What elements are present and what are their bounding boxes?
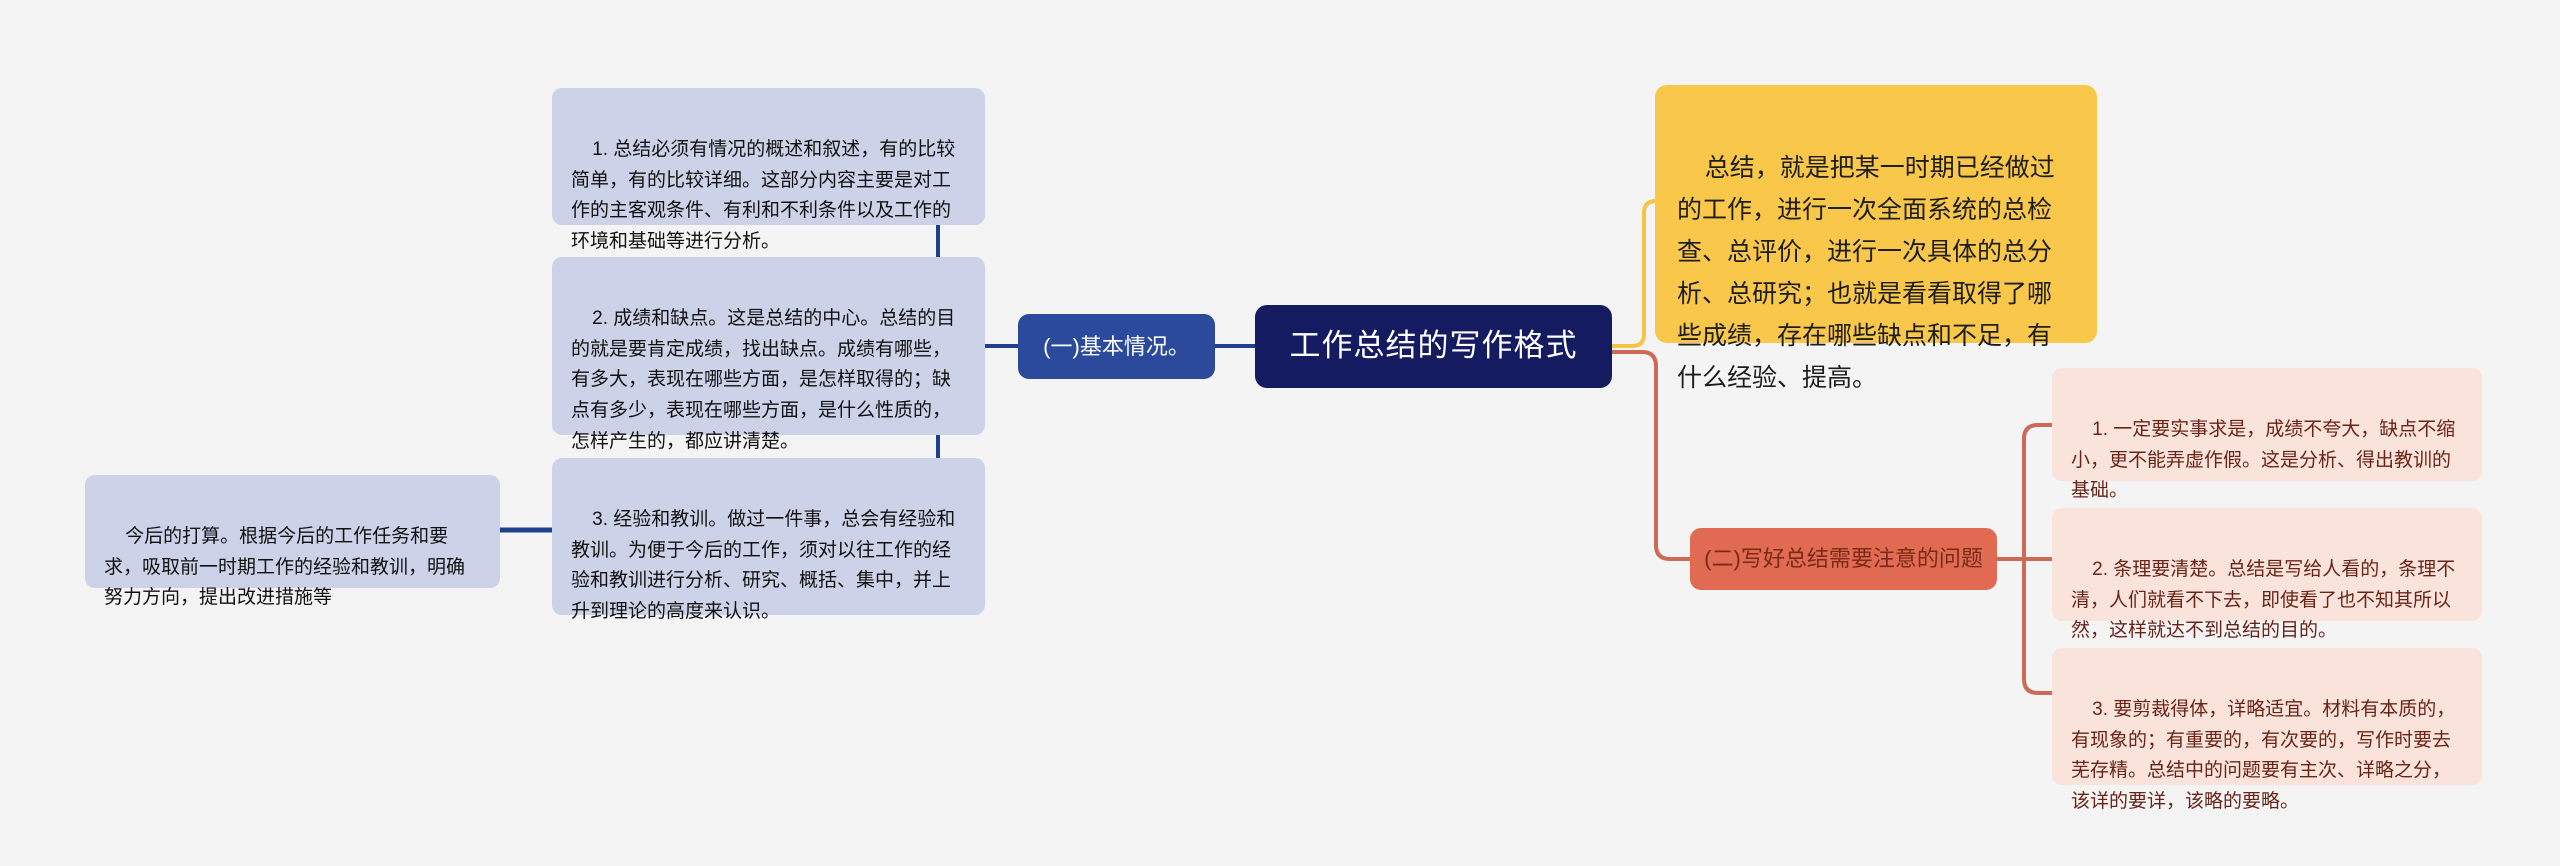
leaf-node-merits-faults-text: 2. 成绩和缺点。这是总结的中心。总结的目的就是要肯定成绩，找出缺点。成绩有哪些… — [571, 308, 955, 452]
leaf-node-experience-lessons[interactable]: 3. 经验和教训。做过一件事，总会有经验和教训。为便于今后的工作，须对以往工作的… — [552, 458, 985, 615]
leaf-node-overview-text: 1. 总结必须有情况的概述和叙述，有的比较简单，有的比较详细。这部分内容主要是对… — [571, 139, 955, 252]
leaf-node-definition[interactable]: 总结，就是把某一时期已经做过的工作，进行一次全面系统的总检查、总评价，进行一次具… — [1655, 85, 2097, 343]
leaf-node-be-organized[interactable]: 2. 条理要清楚。总结是写给人看的，条理不清，人们就看不下去，即使看了也不知其所… — [2052, 508, 2482, 621]
leaf-node-merits-faults[interactable]: 2. 成绩和缺点。这是总结的中心。总结的目的就是要肯定成绩，找出缺点。成绩有哪些… — [552, 257, 985, 435]
leaf-node-be-factual[interactable]: 1. 一定要实事求是，成绩不夸大，缺点不缩小，更不能弄虚作假。这是分析、得出教训… — [2052, 368, 2482, 481]
leaf-node-be-concise-text: 3. 要剪裁得体，详略适宜。材料有本质的，有现象的；有重要的，有次要的，写作时要… — [2071, 699, 2455, 812]
branch-node-basic-situation[interactable]: (一)基本情况。 — [1018, 314, 1215, 379]
branch-node-basic-situation-label: (一)基本情况。 — [1043, 329, 1190, 365]
leaf-node-be-concise[interactable]: 3. 要剪裁得体，详略适宜。材料有本质的，有现象的；有重要的，有次要的，写作时要… — [2052, 648, 2482, 785]
connector-right-bracket — [2024, 425, 2052, 693]
root-node[interactable]: 工作总结的写作格式 — [1255, 305, 1612, 388]
branch-node-attention-points-label: (二)写好总结需要注意的问题 — [1704, 541, 1983, 577]
branch-node-attention-points[interactable]: (二)写好总结需要注意的问题 — [1690, 528, 1997, 590]
leaf-node-be-factual-text: 1. 一定要实事求是，成绩不夸大，缺点不缩小，更不能弄虚作假。这是分析、得出教训… — [2071, 419, 2455, 502]
leaf-node-overview[interactable]: 1. 总结必须有情况的概述和叙述，有的比较简单，有的比较详细。这部分内容主要是对… — [552, 88, 985, 225]
leaf-node-future-plan[interactable]: 今后的打算。根据今后的工作任务和要求，吸取前一时期工作的经验和教训，明确努力方向… — [85, 475, 500, 588]
leaf-node-experience-lessons-text: 3. 经验和教训。做过一件事，总会有经验和教训。为便于今后的工作，须对以往工作的… — [571, 509, 955, 622]
leaf-node-future-plan-text: 今后的打算。根据今后的工作任务和要求，吸取前一时期工作的经验和教训，明确努力方向… — [104, 526, 465, 609]
leaf-node-definition-text: 总结，就是把某一时期已经做过的工作，进行一次全面系统的总检查、总评价，进行一次具… — [1677, 154, 2055, 392]
root-node-label: 工作总结的写作格式 — [1290, 321, 1578, 371]
mindmap-canvas: 工作总结的写作格式 (一)基本情况。 (二)写好总结需要注意的问题 1. 总结必… — [0, 0, 2560, 866]
leaf-node-be-organized-text: 2. 条理要清楚。总结是写给人看的，条理不清，人们就看不下去，即使看了也不知其所… — [2071, 559, 2455, 642]
